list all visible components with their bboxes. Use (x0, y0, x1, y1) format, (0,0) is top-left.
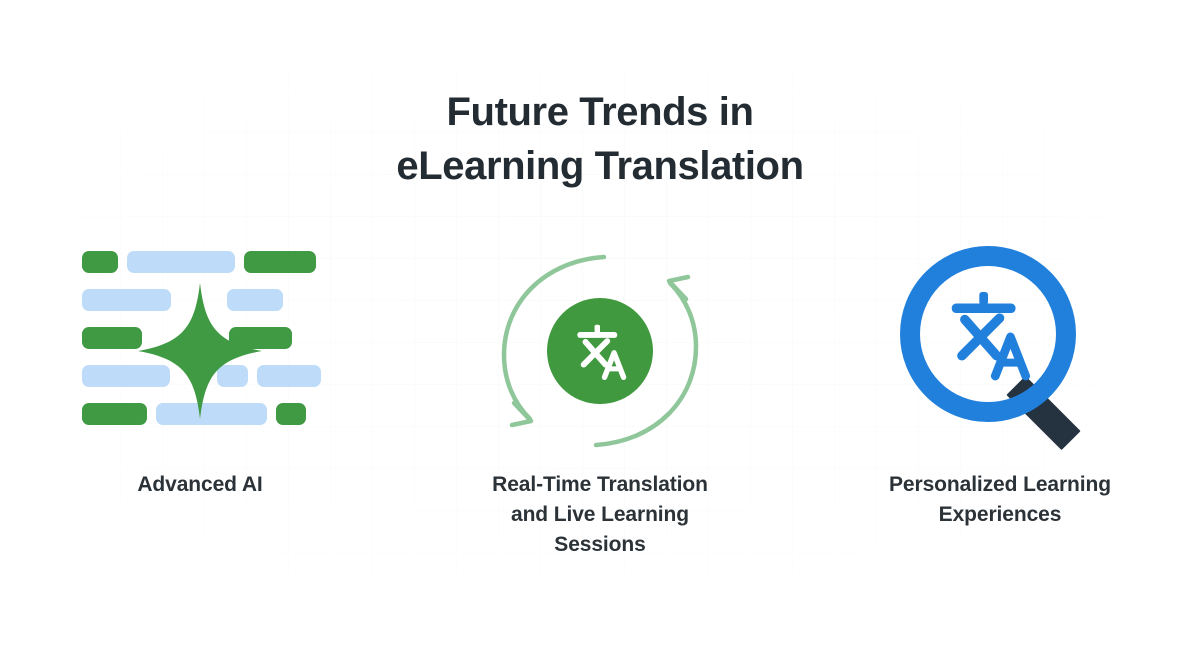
card-caption-personalized: Personalized Learning Experiences (889, 470, 1111, 530)
translate-glyph-icon (571, 322, 629, 380)
text-line-row (82, 251, 316, 273)
card-advanced-ai[interactable]: Advanced AI (0, 246, 400, 500)
card-realtime-translation[interactable]: Real-Time Translation and Live Learning … (400, 246, 800, 560)
page-title: Future Trends in eLearning Translation (0, 85, 1200, 193)
magnifier-glass-icon (880, 246, 1120, 456)
card-caption-realtime: Real-Time Translation and Live Learning … (492, 470, 708, 560)
card-personalized-learning[interactable]: Personalized Learning Experiences (800, 246, 1200, 530)
magnifier-translate-icon (880, 246, 1120, 456)
infographic-canvas: Future Trends in eLearning Translation (0, 0, 1200, 664)
caption-line: and Live Learning (492, 500, 708, 530)
cards-row: Advanced AI (0, 246, 1200, 560)
text-bar (276, 403, 306, 425)
text-bar (127, 251, 235, 273)
page-title-line-2: eLearning Translation (0, 139, 1200, 193)
caption-line: Sessions (492, 530, 708, 560)
caption-line: Personalized Learning (889, 470, 1111, 500)
text-bar (244, 251, 316, 273)
icon-stage-advanced-ai (70, 246, 330, 456)
card-caption-advanced-ai: Advanced AI (137, 470, 262, 500)
page-title-line-1: Future Trends in (0, 85, 1200, 139)
text-bar (82, 327, 142, 349)
sparkle-icon (136, 281, 264, 421)
text-bar (257, 365, 321, 387)
ai-text-lines-sparkle-icon (70, 251, 330, 451)
caption-line: Advanced AI (137, 473, 262, 496)
translate-glyph-icon (952, 292, 1026, 376)
icon-stage-personalized (870, 246, 1130, 456)
caption-line: Experiences (889, 500, 1111, 530)
icon-stage-realtime (470, 246, 730, 456)
rotating-arrows-translate-icon (492, 251, 708, 451)
translate-circle (547, 298, 653, 404)
text-bar (82, 251, 118, 273)
caption-line: Real-Time Translation (492, 470, 708, 500)
